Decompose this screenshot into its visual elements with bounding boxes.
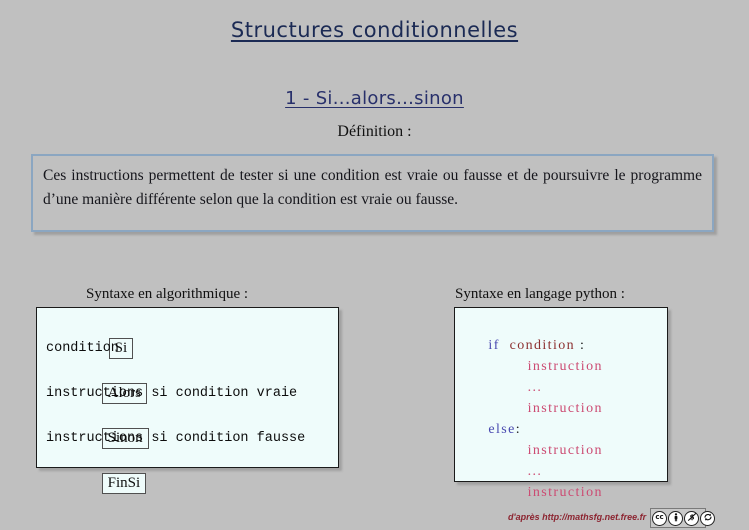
python-indent-5 <box>488 464 527 479</box>
python-indent-3 <box>488 401 527 416</box>
creative-commons-badge[interactable]: cc $ <box>650 508 706 528</box>
python-indent-2 <box>488 380 527 395</box>
python-code-box: if condition : instruction ... instructi… <box>454 307 668 482</box>
algorithm-code-box: Si condition Alors instructions si condi… <box>36 307 339 468</box>
python-token-ellipsis-1: ... <box>528 380 543 395</box>
definition-box: Ces instructions permettent de tester si… <box>31 154 714 232</box>
cc-nc-icon: $ <box>684 511 699 526</box>
python-indent-1 <box>488 359 527 374</box>
section-title: 1 - Si...alors...sinon <box>0 88 749 109</box>
algorithm-line-instructions-vraie: instructions si condition vraie <box>46 383 330 404</box>
cc-logo-icon: cc <box>652 511 667 526</box>
python-token-instruction-4: instruction <box>528 485 603 500</box>
python-token-if: if <box>488 338 499 353</box>
algorithm-keyword-finsi: FinSi <box>102 473 147 494</box>
slide-canvas: Structures conditionnelles 1 - Si...alor… <box>0 0 749 530</box>
algorithm-line-finsi: FinSi <box>46 449 330 473</box>
python-token-condition: condition <box>510 338 575 353</box>
cc-sa-icon <box>700 511 715 526</box>
python-token-instruction-3: instruction <box>528 443 603 458</box>
algorithm-line-si: Si <box>46 314 330 338</box>
definition-label: Définition : <box>0 123 749 141</box>
python-indent-6 <box>488 485 527 500</box>
python-token-instruction-1: instruction <box>528 359 603 374</box>
footer-credit-link[interactable]: d'après http://mathsfg.net.free.fr <box>508 512 646 522</box>
python-indent-4 <box>488 443 527 458</box>
algorithm-line-instructions-fausse: instructions si condition fausse <box>46 428 330 449</box>
python-space-1 <box>500 338 510 353</box>
cc-by-icon <box>668 511 683 526</box>
algorithm-line-sinon: Sinon <box>46 404 330 428</box>
definition-text: Ces instructions permettent de tester si… <box>43 164 702 212</box>
page-title: Structures conditionnelles <box>0 18 749 42</box>
algorithm-caption: Syntaxe en algorithmique : <box>86 286 248 303</box>
algorithm-line-condition: condition <box>46 338 330 359</box>
algorithm-line-alors: Alors <box>46 359 330 383</box>
python-token-colon-else: : <box>516 422 521 437</box>
python-line-if: if condition : <box>459 314 659 335</box>
python-token-else: else <box>488 422 515 437</box>
python-caption: Syntaxe en langage python : <box>455 286 625 303</box>
python-token-instruction-2: instruction <box>528 401 603 416</box>
python-token-ellipsis-2: ... <box>528 464 543 479</box>
python-token-colon-if: : <box>580 338 585 353</box>
